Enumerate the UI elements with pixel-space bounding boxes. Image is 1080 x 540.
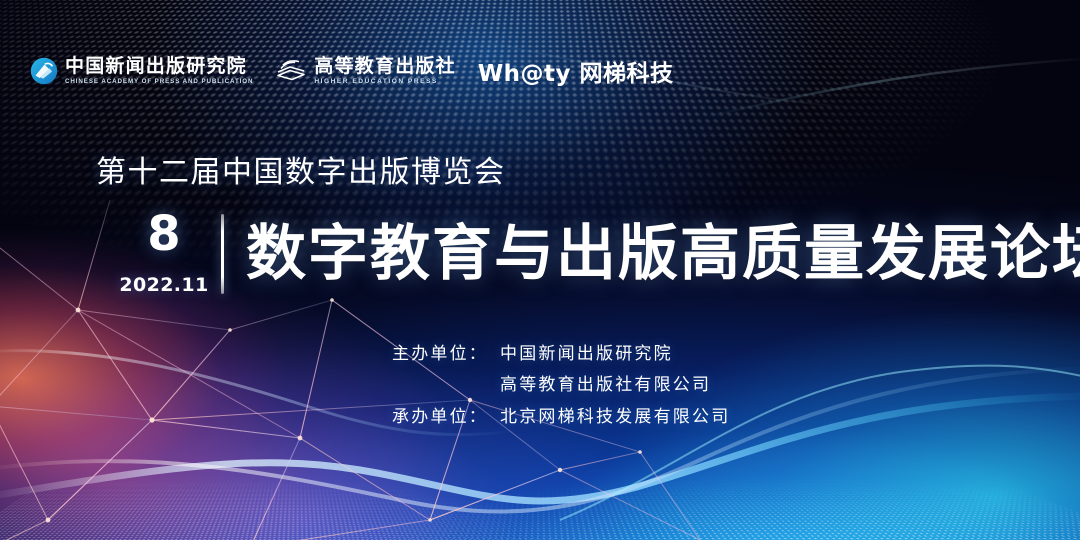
logo-cappp-en: CHINESE ACADEMY OF PRESS AND PUBLICATION [65,79,253,85]
organizer-value: 中国新闻出版研究院 [500,344,673,364]
organizer-line: 承办单位： 北京网梯科技发展有限公司 [392,407,730,427]
organizer-value: 高等教育出版社有限公司 [500,375,711,395]
sponsor-logo-row: 中国新闻出版研究院 CHINESE ACADEMY OF PRESS AND P… [30,54,674,88]
logo-hep-text: 高等教育出版社 HIGHER EDUCATION PRESS [314,57,455,86]
title-row: 8 2022.11 数字教育与出版高质量发展论坛 [125,210,1080,298]
hep-book-icon [275,58,307,84]
logo-cappp: 中国新闻出版研究院 CHINESE ACADEMY OF PRESS AND P… [30,57,253,85]
organizers-block: 主办单位： 中国新闻出版研究院 主办单位： 高等教育出版社有限公司 承办单位： … [392,344,730,427]
logo-cappp-text: 中国新闻出版研究院 CHINESE ACADEMY OF PRESS AND P… [65,57,253,85]
organizer-label: 承办单位： [392,407,500,427]
logo-cappp-cn: 中国新闻出版研究院 [65,57,253,76]
organizer-label: 主办单位： [392,344,500,364]
logo-hep-cn: 高等教育出版社 [314,57,455,76]
organizer-line: 主办单位： 中国新闻出版研究院 [392,344,730,364]
logo-hep-en: HIGHER EDUCATION PRESS [314,79,455,86]
organizer-line: 主办单位： 高等教育出版社有限公司 [392,375,730,395]
event-year-month: 2022.11 [119,274,208,296]
logo-whaty: Wh@ty 网梯科技 [478,54,674,88]
event-day: 8 [147,210,180,258]
organizer-value: 北京网梯科技发展有限公司 [500,407,730,427]
book-circle-icon [30,57,58,85]
forum-title: 数字教育与出版高质量发展论坛 [246,210,1080,298]
event-date-block: 8 2022.11 [125,210,203,298]
expo-subtitle: 第十二届中国数字出版博览会 [96,147,506,191]
event-poster: 中国新闻出版研究院 CHINESE ACADEMY OF PRESS AND P… [0,0,1080,540]
whaty-wordmark-icon: Wh@ty 网梯科技 [478,54,674,88]
logo-hep: 高等教育出版社 HIGHER EDUCATION PRESS [275,57,455,86]
title-divider [221,214,224,294]
